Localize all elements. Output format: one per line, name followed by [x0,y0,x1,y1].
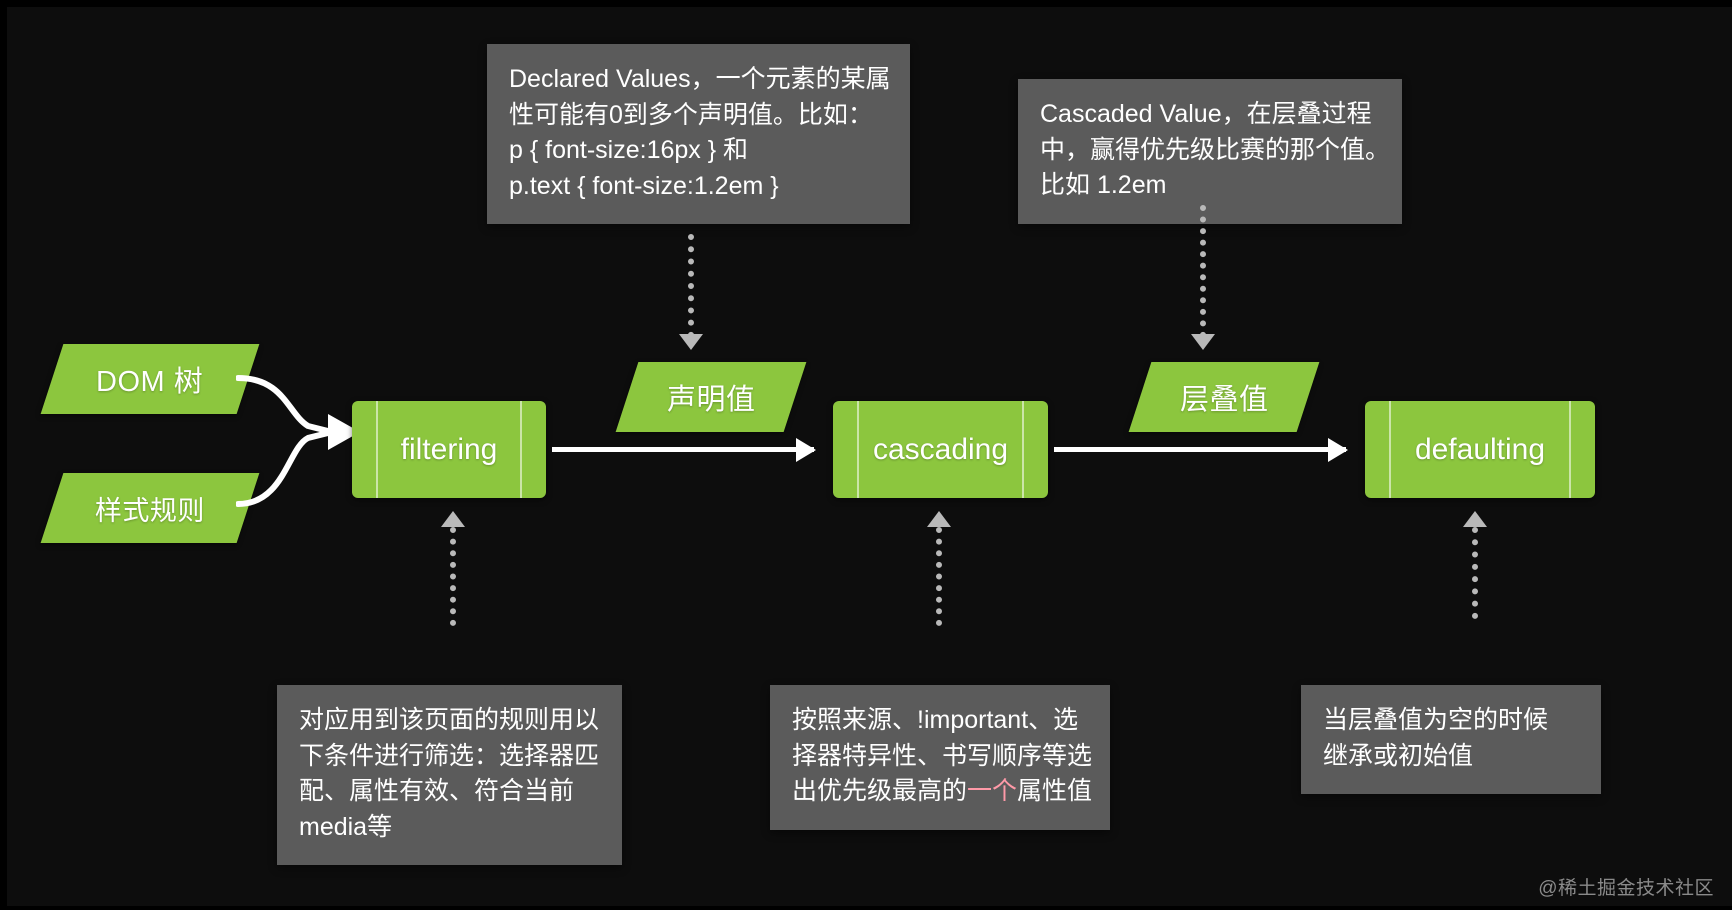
stage-node-defaulting: defaulting [1365,401,1595,498]
process-bar-left [1389,401,1391,498]
stage-node-label: filtering [401,433,498,467]
callout-line: 继承或初始值 [1323,739,1579,775]
callout-line: 中，赢得优先级比赛的那个值。 [1040,133,1380,169]
diagram-canvas: Declared Values，一个元素的某属 性可能有0到多个声明值。比如： … [0,0,1732,910]
stage-node-label: cascading [873,433,1008,467]
merge-connector [236,352,366,512]
dotted-arrowhead-cascaded [1191,334,1215,350]
dotted-connector-cascaded [1200,205,1206,338]
cascaded-value-callout: Cascaded Value，在层叠过程 中，赢得优先级比赛的那个值。 比如 1… [1018,79,1402,224]
callout-line: Cascaded Value，在层叠过程 [1040,97,1380,133]
callout-line: p.text { font-size:1.2em } [509,169,888,205]
process-bar-left [376,401,378,498]
stage-node-filtering: filtering [352,401,546,498]
callout-segment: 择器特异性、书写顺序等选 [792,742,1092,770]
callout-line: 当层叠值为空的时候 [1323,703,1579,739]
stage-node-cascading: cascading [833,401,1048,498]
callout-line: 出优先级最高的一个属性值 [792,774,1088,810]
input-node-label: DOM 树 [96,358,203,400]
input-node-dom-tree: DOM 树 [41,344,260,414]
value-node-label: 层叠值 [1180,376,1269,418]
dotted-connector-cascading [936,527,942,626]
process-bar-right [1569,401,1571,498]
callout-segment: 出优先级最高的 [792,777,967,805]
dotted-connector-declared [688,234,694,338]
callout-line: Declared Values，一个元素的某属 [509,62,888,98]
process-bar-left [857,401,859,498]
callout-highlight: 一个 [967,777,1017,805]
callout-segment: 按照来源、!important、选 [792,706,1078,734]
input-node-style-rules: 样式规则 [41,473,260,543]
arrow-cascading-to-defaulting [1054,447,1346,452]
process-bar-right [1022,401,1024,498]
callout-line: 按照来源、!important、选 [792,703,1088,739]
arrow-filtering-to-cascading [552,447,814,452]
input-node-label: 样式规则 [95,489,205,528]
value-node-declared: 声明值 [616,362,807,432]
process-bar-right [520,401,522,498]
dotted-arrowhead-filtering [441,511,465,527]
callout-line: p { font-size:16px } 和 [509,133,888,169]
value-node-cascaded: 层叠值 [1129,362,1320,432]
callout-line: 性可能有0到多个声明值。比如： [509,98,888,134]
dotted-connector-filtering [450,527,456,626]
declared-values-callout: Declared Values，一个元素的某属 性可能有0到多个声明值。比如： … [487,44,910,224]
callout-line: 对应用到该页面的规则用以 [299,703,600,739]
callout-line: 择器特异性、书写顺序等选 [792,739,1088,775]
dotted-arrowhead-defaulting [1463,511,1487,527]
callout-line: 比如 1.2em [1040,168,1380,204]
filtering-callout: 对应用到该页面的规则用以 下条件进行筛选：选择器匹 配、属性有效、符合当前 me… [277,685,622,865]
stage-node-label: defaulting [1415,433,1545,467]
value-node-label: 声明值 [667,376,756,418]
dotted-connector-defaulting [1472,527,1478,619]
dotted-arrowhead-declared [679,334,703,350]
defaulting-callout: 当层叠值为空的时候 继承或初始值 [1301,685,1601,794]
callout-line: media等 [299,810,600,846]
callout-line: 下条件进行筛选：选择器匹 [299,739,600,775]
callout-segment: 属性值 [1017,777,1092,805]
cascading-callout: 按照来源、!important、选 择器特异性、书写顺序等选 出优先级最高的一个… [770,685,1110,830]
dotted-arrowhead-cascading [927,511,951,527]
callout-line: 配、属性有效、符合当前 [299,774,600,810]
watermark: @稀土掘金技术社区 [1538,873,1714,900]
